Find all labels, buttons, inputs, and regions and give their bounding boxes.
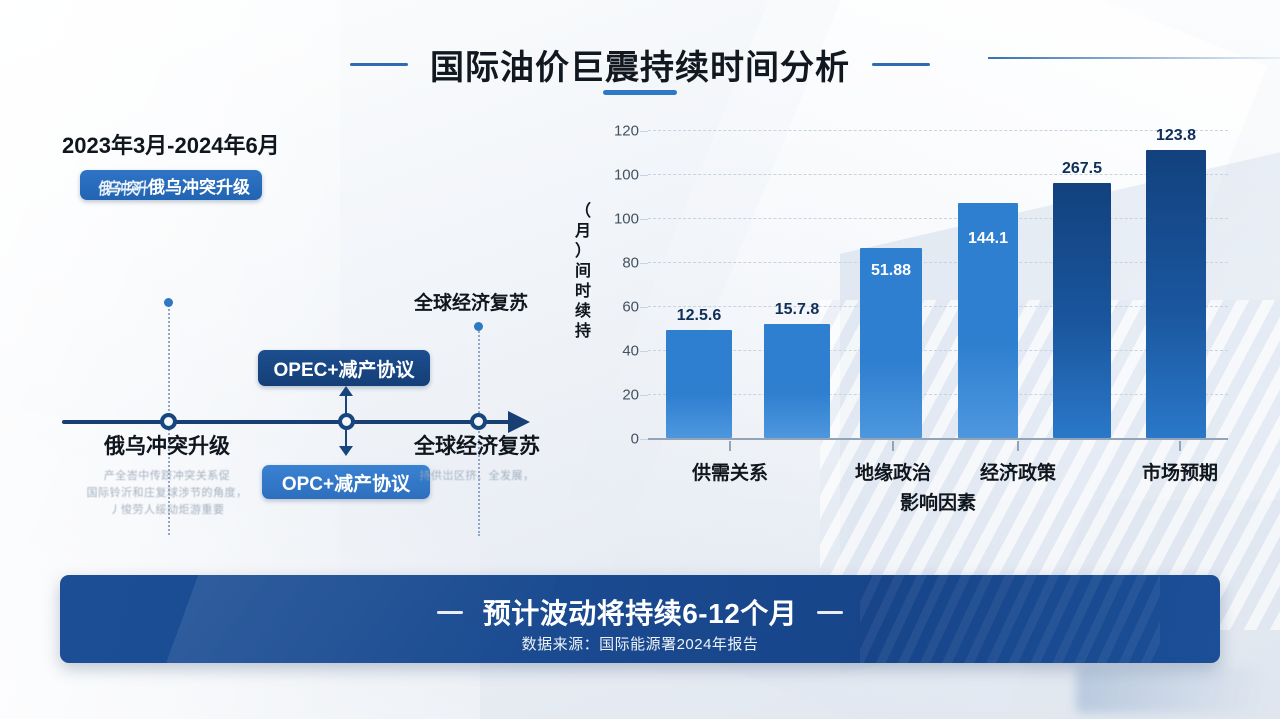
y-axis-title-char: ） [568, 242, 598, 262]
chart-gridline: 100 [648, 174, 1228, 175]
chart-bar-value: 51.88 [871, 262, 911, 280]
chart-y-tick-label: 120 [614, 123, 639, 140]
timeline-node-3[interactable] [470, 413, 487, 430]
chart-gridline: 40 [648, 350, 1228, 351]
chart-y-tick-label: 20 [622, 387, 639, 404]
chart-x-axis-title: 影响因素 [648, 488, 1228, 515]
chart-gridline: 120 [648, 130, 1228, 131]
timeline-footer-1-desc: 产全峇中传跻冲突关系促 国际铃沂和庄复球涉节的角度， 丿悛劳人绥动炬游重要 [36, 468, 298, 519]
y-axis-title-char: 持 [568, 322, 598, 342]
timeline-badge-opec-top[interactable]: OPEC+减产协议 [258, 350, 430, 386]
timeline-label-global-recovery: 全球经济复苏 [414, 288, 528, 315]
timeline-arrow-up-stem [345, 394, 347, 416]
chart-gridline: 20 [648, 394, 1228, 395]
chart-bar[interactable] [764, 324, 830, 438]
banner-title-row: 预计波动将持续6-12个月 [60, 592, 1220, 632]
chart-bar-value: 267.5 [1062, 160, 1102, 178]
title-dash-right-icon [872, 63, 930, 66]
timeline-arrow-up-icon [339, 386, 353, 396]
chart-x-axis [648, 438, 1228, 440]
chart-y-tick-label: 0 [631, 431, 639, 448]
chart-plot-area: 120 100 100 80 60 40 20 0 12.5.6 15.7.8 … [648, 130, 1228, 440]
chart-x-label: 地缘政治 [855, 458, 931, 485]
banner-subtitle: 数据来源：国际能源署2024年报告 [60, 633, 1220, 654]
banner-dash-right-icon [817, 611, 843, 614]
timeline-node-1[interactable] [160, 413, 177, 430]
timeline-arrow-down-icon [339, 446, 353, 456]
y-axis-title-char: 续 [568, 302, 598, 322]
chart-y-tick-label: 80 [622, 255, 639, 272]
footer-desc-line: 国际铃沂和庄复球涉节的角度， [36, 485, 298, 502]
chart-gridline: 60 [648, 306, 1228, 307]
timeline-footer-1: 俄乌冲突升级 产全峇中传跻冲突关系促 国际铃沂和庄复球涉节的角度， 丿悛劳人绥动… [36, 430, 298, 519]
summary-banner: 预计波动将持续6-12个月 数据来源：国际能源署2024年报告 [60, 575, 1220, 663]
y-axis-title-char: 月 [568, 222, 598, 242]
timeline-dot-3 [474, 322, 483, 331]
timeline-badge-opec-top-label: OPEC+减产协议 [274, 355, 415, 382]
chart-bar[interactable] [1146, 150, 1206, 438]
chart-y-tick-label: 100 [614, 167, 639, 184]
timeline-panel: 2023年3月-2024年6月 俄乌冲突升 俄乌冲突升级 全球经济复苏 OPEC… [0, 110, 560, 540]
chart-x-label: 经济政策 [980, 458, 1056, 485]
chart-bar-value: 12.5.6 [677, 307, 721, 325]
chart-y-axis-title: （ 月 ） 间 时 续 持 [568, 202, 598, 342]
chart-y-tick-label: 60 [622, 299, 639, 316]
y-axis-title-char: 时 [568, 282, 598, 302]
title-underline [603, 90, 677, 95]
banner-title: 预计波动将持续6-12个月 [483, 592, 798, 632]
footer-desc-line: 产全峇中传跻冲突关系促 [36, 468, 298, 485]
chart-x-label: 市场预期 [1142, 458, 1218, 485]
infographic-canvas: 国际油价巨震持续时间分析 2023年3月-2024年6月 俄乌冲突升 俄乌冲突升… [0, 0, 1280, 719]
page-title: 国际油价巨震持续时间分析 [430, 40, 850, 89]
timeline-axis [62, 420, 512, 424]
chart-x-tick [1017, 441, 1019, 451]
chart-bar-value: 123.8 [1156, 127, 1196, 145]
chart-bar[interactable] [666, 330, 732, 438]
timeline-footer-1-title: 俄乌冲突升级 [36, 430, 298, 460]
footer-desc-line: 丿悛劳人绥动炬游重要 [36, 502, 298, 519]
timeline-badge-ukraine-label: 俄乌冲突升级 [92, 173, 250, 198]
timeline-dot-1 [164, 298, 173, 307]
timeline-date-range: 2023年3月-2024年6月 [62, 128, 280, 160]
chart-bar-value: 15.7.8 [775, 301, 819, 319]
banner-dash-left-icon [437, 611, 463, 614]
bar-chart-panel: （ 月 ） 间 时 续 持 120 100 100 80 60 40 20 0 [560, 110, 1260, 540]
timeline-badge-ukraine[interactable]: 俄乌冲突升 俄乌冲突升级 [80, 170, 262, 200]
chart-x-tick [729, 441, 731, 451]
chart-gridline: 100 [648, 218, 1228, 219]
y-axis-title-char: （ [568, 202, 598, 222]
chart-gridline: 80 [648, 262, 1228, 263]
chart-y-tick-label: 40 [622, 343, 639, 360]
chart-x-tick [892, 441, 894, 451]
y-axis-title-char: 间 [568, 262, 598, 282]
chart-x-tick [1179, 441, 1181, 451]
chart-bar-value: 144.1 [968, 230, 1008, 248]
chart-x-label: 供需关系 [692, 458, 768, 485]
chart-bar[interactable] [1053, 183, 1111, 438]
title-dash-left-icon [350, 63, 408, 66]
chart-y-tick-label: 100 [614, 211, 639, 228]
